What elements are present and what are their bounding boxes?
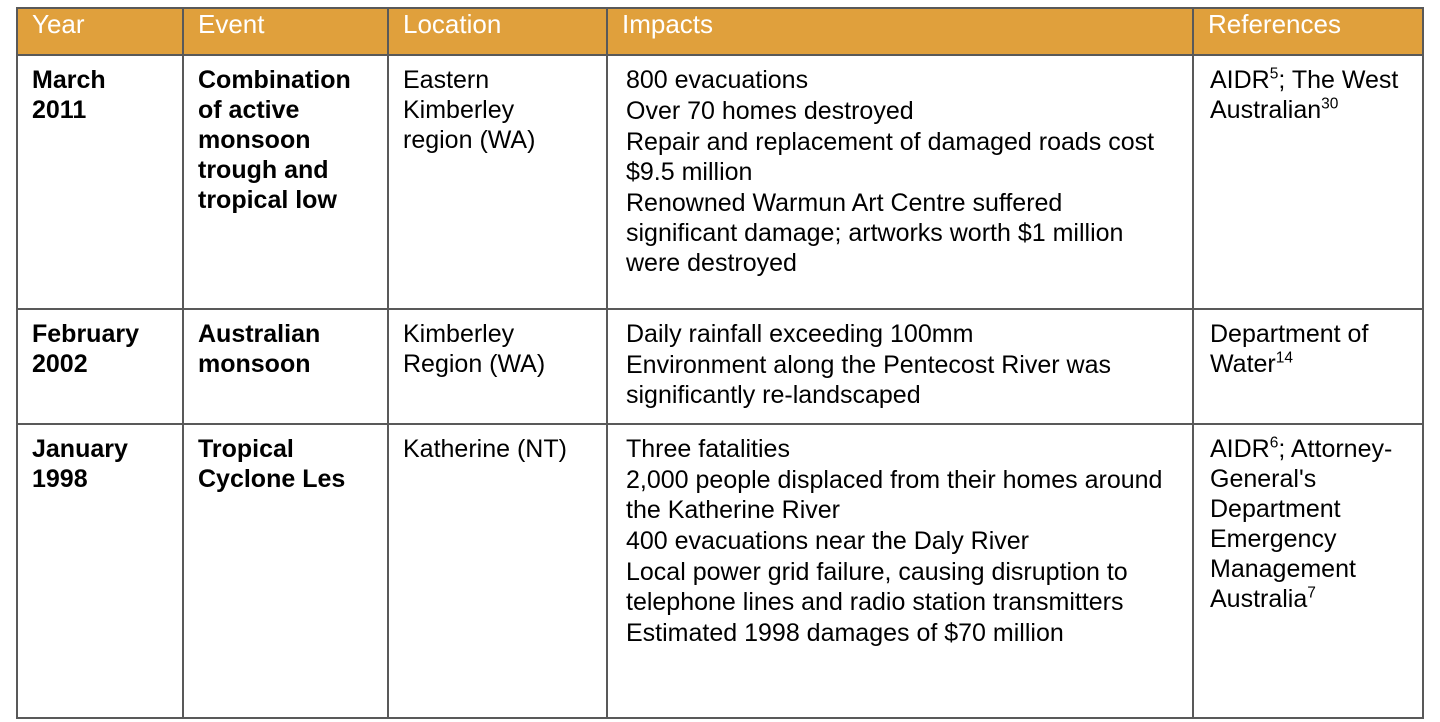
year-line: 2011 [32, 95, 170, 125]
reference-superscript: 30 [1321, 96, 1338, 113]
impact-item: 2,000 people displaced from their homes … [626, 465, 1180, 525]
table-header: Year Event Location Impacts References [17, 8, 1423, 55]
references-value: AIDR6; Attorney-General's Department Eme… [1194, 425, 1422, 626]
table-row: February 2002 Australian monsoon Kimberl… [17, 309, 1423, 424]
location-line: Eastern [403, 65, 594, 95]
impact-item: Environment along the Pentecost River wa… [626, 350, 1180, 410]
location-value: Katherine (NT) [389, 425, 606, 476]
cell-location: Eastern Kimberley region (WA) [388, 55, 607, 309]
event-line: trough and [198, 155, 375, 185]
event-value: Combination of active monsoon trough and… [184, 56, 387, 227]
reference-superscript: 6 [1270, 435, 1279, 452]
impact-item: Daily rainfall exceeding 100mm [626, 319, 1180, 349]
column-header-year: Year [17, 8, 183, 55]
impact-item: Estimated 1998 damages of $70 million [626, 618, 1180, 648]
cell-year: January 1998 [17, 424, 183, 718]
cell-year: February 2002 [17, 309, 183, 424]
hazard-events-table: Year Event Location Impacts References [16, 7, 1424, 719]
event-line: Combination [198, 65, 375, 95]
year-value: February 2002 [18, 310, 182, 391]
event-line: Australian [198, 319, 375, 349]
cell-event: Tropical Cyclone Les [183, 424, 388, 718]
location-line: Kimberley [403, 95, 594, 125]
column-header-location-label: Location [389, 3, 501, 45]
hazard-events-table-container: Year Event Location Impacts References [16, 7, 1422, 719]
cell-references: AIDR6; Attorney-General's Department Eme… [1193, 424, 1423, 718]
cell-location: Katherine (NT) [388, 424, 607, 718]
location-line: region (WA) [403, 125, 594, 155]
table-row: January 1998 Tropical Cyclone Les Kather… [17, 424, 1423, 718]
table-row: March 2011 Combination of active monsoon… [17, 55, 1423, 309]
table-body: March 2011 Combination of active monsoon… [17, 55, 1423, 718]
cell-event: Australian monsoon [183, 309, 388, 424]
year-line: January [32, 434, 170, 464]
year-line: March [32, 65, 170, 95]
year-line: 1998 [32, 464, 170, 494]
impacts-list: Daily rainfall exceeding 100mm Environme… [608, 310, 1192, 423]
impact-item: Three fatalities [626, 434, 1180, 464]
event-line: tropical low [198, 185, 375, 215]
location-line: Katherine (NT) [403, 434, 594, 464]
column-header-location: Location [388, 8, 607, 55]
impact-item: Local power grid failure, causing disrup… [626, 557, 1180, 617]
event-line: monsoon [198, 125, 375, 155]
column-header-references-label: References [1194, 3, 1341, 45]
event-line: Cyclone Les [198, 464, 375, 494]
event-line: Tropical [198, 434, 375, 464]
cell-impacts: Daily rainfall exceeding 100mm Environme… [607, 309, 1193, 424]
reference-superscript: 7 [1307, 585, 1316, 602]
column-header-event: Event [183, 8, 388, 55]
location-line: Kimberley [403, 319, 594, 349]
column-header-year-label: Year [18, 3, 85, 45]
event-value: Tropical Cyclone Les [184, 425, 387, 506]
impact-item: Over 70 homes destroyed [626, 96, 1180, 126]
event-line: monsoon [198, 349, 375, 379]
cell-references: Department of Water14 [1193, 309, 1423, 424]
event-line: of active [198, 95, 375, 125]
year-value: January 1998 [18, 425, 182, 506]
impacts-list: Three fatalities 2,000 people displaced … [608, 425, 1192, 661]
reference-superscript: 5 [1270, 66, 1279, 83]
location-line: Region (WA) [403, 349, 594, 379]
cell-references: AIDR5; The West Australian30 [1193, 55, 1423, 309]
column-header-impacts: Impacts [607, 8, 1193, 55]
column-header-references: References [1193, 8, 1423, 55]
impact-item: Renowned Warmun Art Centre suffered sign… [626, 188, 1180, 278]
table-header-row: Year Event Location Impacts References [17, 8, 1423, 55]
cell-impacts: 800 evacuations Over 70 homes destroyed … [607, 55, 1193, 309]
column-header-event-label: Event [184, 3, 265, 45]
cell-year: March 2011 [17, 55, 183, 309]
references-value: Department of Water14 [1194, 310, 1422, 391]
location-value: Kimberley Region (WA) [389, 310, 606, 391]
column-header-impacts-label: Impacts [608, 3, 713, 45]
event-value: Australian monsoon [184, 310, 387, 391]
year-line: 2002 [32, 349, 170, 379]
reference-superscript: 14 [1276, 350, 1293, 367]
year-value: March 2011 [18, 56, 182, 137]
cell-impacts: Three fatalities 2,000 people displaced … [607, 424, 1193, 718]
location-value: Eastern Kimberley region (WA) [389, 56, 606, 167]
cell-location: Kimberley Region (WA) [388, 309, 607, 424]
impact-item: 800 evacuations [626, 65, 1180, 95]
year-line: February [32, 319, 170, 349]
impacts-list: 800 evacuations Over 70 homes destroyed … [608, 56, 1192, 291]
impact-item: Repair and replacement of damaged roads … [626, 127, 1180, 187]
references-value: AIDR5; The West Australian30 [1194, 56, 1422, 137]
impact-item: 400 evacuations near the Daly River [626, 526, 1180, 556]
cell-event: Combination of active monsoon trough and… [183, 55, 388, 309]
